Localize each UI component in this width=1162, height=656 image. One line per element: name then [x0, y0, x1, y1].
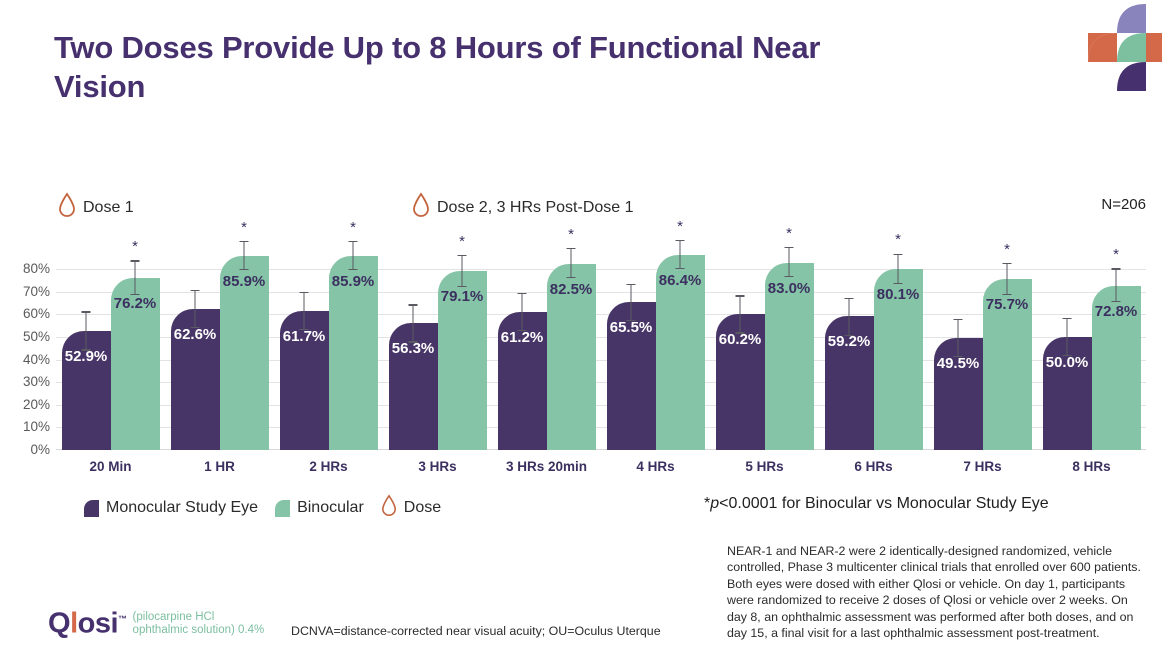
error-bar: [627, 284, 636, 321]
legend-item-monocular: Monocular Study Eye: [84, 499, 258, 517]
bar-wrapper: *72.8%: [1092, 258, 1141, 450]
product-name-char: l: [70, 608, 78, 640]
y-axis-tick: 50%: [4, 329, 50, 344]
product-name-char: i: [110, 608, 118, 640]
bar-wrapper: *80.1%: [874, 258, 923, 450]
bar-wrapper: *83.0%: [765, 258, 814, 450]
error-bar: [349, 241, 358, 270]
dose-marker-2-label: Dose 2, 3 HRs Post-Dose 1: [437, 199, 634, 217]
legend-item-binocular: Binocular: [275, 499, 364, 517]
x-axis-label: 6 HRs: [819, 459, 928, 474]
product-name-char: o: [78, 608, 95, 640]
y-axis-tick: 80%: [4, 261, 50, 276]
bar-value-label: 50.0%: [1046, 354, 1089, 371]
bar-wrapper: *85.9%: [220, 258, 269, 450]
x-axis-label: 1 HR: [165, 459, 274, 474]
droplet-icon: [58, 192, 76, 223]
legend-label-monocular: Monocular Study Eye: [106, 499, 258, 517]
abbreviation-note: DCNVA=distance-corrected near visual acu…: [291, 624, 661, 638]
error-bar: [894, 254, 903, 284]
pvalue-note: *p<0.0001 for Binocular vs Monocular Stu…: [704, 495, 1049, 513]
bar-group: 62.6%*85.9%1 HR: [165, 258, 274, 450]
legend-item-dose: Dose: [381, 494, 441, 522]
bar-wrapper: *82.5%: [547, 258, 596, 450]
chart-legend: Monocular Study Eye Binocular Dose: [84, 494, 441, 522]
bar-group: 65.5%*86.4%4 HRs: [601, 258, 710, 450]
x-axis-label: 4 HRs: [601, 459, 710, 474]
bar-wrapper: *86.4%: [656, 258, 705, 450]
significance-marker: *: [132, 243, 138, 251]
bar-wrapper: *85.9%: [329, 258, 378, 450]
bar-value-label: 75.7%: [986, 296, 1029, 313]
error-bar: [845, 298, 854, 336]
bar-value-label: 85.9%: [332, 273, 375, 290]
bar-value-label: 76.2%: [114, 295, 157, 312]
product-name-char: s: [95, 608, 111, 640]
error-bar: [240, 241, 249, 270]
bar-value-label: 65.5%: [610, 319, 653, 336]
bar-value-label: 86.4%: [659, 272, 702, 289]
error-bar: [567, 248, 576, 278]
bar-group: 61.2%*82.5%3 HRs 20min: [492, 258, 601, 450]
bar-value-label: 61.7%: [283, 328, 326, 345]
error-bar: [676, 240, 685, 269]
bar-value-label: 59.2%: [828, 333, 871, 350]
legend-label-binocular: Binocular: [297, 499, 364, 517]
bar-value-label: 72.8%: [1095, 303, 1138, 320]
significance-marker: *: [568, 231, 574, 239]
error-bar: [785, 247, 794, 277]
bar-value-label: 62.6%: [174, 326, 217, 343]
bar-chart: 0%10%20%30%40%50%60%70%80%52.9%*76.2%20 …: [0, 225, 1162, 485]
bar-value-label: 79.1%: [441, 288, 484, 305]
error-bar: [1063, 318, 1072, 356]
product-name: Qlosi™: [48, 605, 127, 639]
bar-value-label: 52.9%: [65, 348, 108, 365]
bar-wrapper: 61.7%: [280, 258, 329, 450]
error-bar: [1112, 268, 1121, 302]
significance-marker: *: [677, 223, 683, 231]
bar-wrapper: 59.2%: [825, 258, 874, 450]
dose-marker-1-label: Dose 1: [83, 199, 134, 217]
dose-marker-2: Dose 2, 3 HRs Post-Dose 1: [412, 192, 634, 223]
error-bar: [409, 304, 418, 342]
significance-marker: *: [459, 238, 465, 246]
x-axis-label: 5 HRs: [710, 459, 819, 474]
bar-wrapper: 49.5%: [934, 258, 983, 450]
y-axis-tick: 60%: [4, 306, 50, 321]
significance-marker: *: [241, 224, 247, 232]
bar-wrapper: *76.2%: [111, 258, 160, 450]
bar-wrapper: 52.9%: [62, 258, 111, 450]
bar-wrapper: 60.2%: [716, 258, 765, 450]
y-axis-tick: 0%: [4, 442, 50, 457]
error-bar: [736, 295, 745, 333]
legend-swatch-monocular: [84, 500, 99, 517]
product-description-line1: (pilocarpine HCl: [133, 611, 265, 624]
significance-marker: *: [786, 230, 792, 238]
x-axis-label: 7 HRs: [928, 459, 1037, 474]
y-axis-tick: 20%: [4, 397, 50, 412]
y-axis-tick: 10%: [4, 419, 50, 434]
significance-marker: *: [350, 224, 356, 232]
legend-swatch-binocular: [275, 500, 290, 517]
bar-group: 56.3%*79.1%3 HRs: [383, 258, 492, 450]
product-description-line2: ophthalmic solution) 0.4%: [133, 624, 265, 637]
bar-wrapper: 50.0%: [1043, 258, 1092, 450]
trademark-symbol: ™: [118, 614, 127, 624]
bar-wrapper: 65.5%: [607, 258, 656, 450]
dose-marker-1: Dose 1: [58, 192, 134, 223]
legend-label-dose: Dose: [404, 499, 441, 517]
x-axis-label: 8 HRs: [1037, 459, 1146, 474]
x-axis-label: 20 Min: [56, 459, 165, 474]
bar-value-label: 56.3%: [392, 340, 435, 357]
bar-wrapper: 61.2%: [498, 258, 547, 450]
bar-value-label: 49.5%: [937, 355, 980, 372]
sample-size-label: N=206: [1101, 196, 1146, 213]
error-bar: [131, 260, 140, 295]
page-title: Two Doses Provide Up to 8 Hours of Funct…: [54, 28, 884, 106]
bar-value-label: 85.9%: [223, 273, 266, 290]
droplet-icon: [381, 494, 397, 522]
significance-marker: *: [1004, 246, 1010, 254]
bar-value-label: 83.0%: [768, 280, 811, 297]
bar-wrapper: *79.1%: [438, 258, 487, 450]
x-axis-label: 2 HRs: [274, 459, 383, 474]
significance-marker: *: [895, 236, 901, 244]
pvalue-symbol: p: [710, 495, 719, 512]
product-description: (pilocarpine HClophthalmic solution) 0.4…: [133, 605, 265, 637]
bar-value-label: 80.1%: [877, 286, 920, 303]
bar-wrapper: 56.3%: [389, 258, 438, 450]
product-logo: Qlosi™ (pilocarpine HClophthalmic soluti…: [48, 605, 264, 639]
error-bar: [954, 319, 963, 357]
error-bar: [518, 293, 527, 331]
study-footnote: NEAR-1 and NEAR-2 were 2 identically-des…: [727, 543, 1147, 641]
y-axis-tick: 30%: [4, 374, 50, 389]
significance-marker: *: [1113, 251, 1119, 259]
bar-value-label: 61.2%: [501, 329, 544, 346]
bar-wrapper: 62.6%: [171, 258, 220, 450]
x-axis-label: 3 HRs 20min: [492, 459, 601, 474]
product-name-char: Q: [48, 608, 70, 640]
bar-value-label: 82.5%: [550, 281, 593, 298]
bar-group: 60.2%*83.0%5 HRs: [710, 258, 819, 450]
bar-group: 52.9%*76.2%20 Min: [56, 258, 165, 450]
bar-group: 59.2%*80.1%6 HRs: [819, 258, 928, 450]
bar-group: 61.7%*85.9%2 HRs: [274, 258, 383, 450]
plot-area: 0%10%20%30%40%50%60%70%80%52.9%*76.2%20 …: [56, 258, 1146, 450]
error-bar: [300, 292, 309, 330]
error-bar: [458, 255, 467, 288]
bar-group: 49.5%*75.7%7 HRs: [928, 258, 1037, 450]
y-axis-tick: 70%: [4, 284, 50, 299]
company-logo-icon: [1062, 0, 1162, 100]
droplet-icon: [412, 192, 430, 223]
x-axis-label: 3 HRs: [383, 459, 492, 474]
bar-group: 50.0%*72.8%8 HRs: [1037, 258, 1146, 450]
error-bar: [82, 311, 91, 351]
bar-wrapper: *75.7%: [983, 258, 1032, 450]
error-bar: [191, 290, 200, 328]
bar-value-label: 60.2%: [719, 331, 762, 348]
error-bar: [1003, 263, 1012, 296]
y-axis-tick: 40%: [4, 352, 50, 367]
